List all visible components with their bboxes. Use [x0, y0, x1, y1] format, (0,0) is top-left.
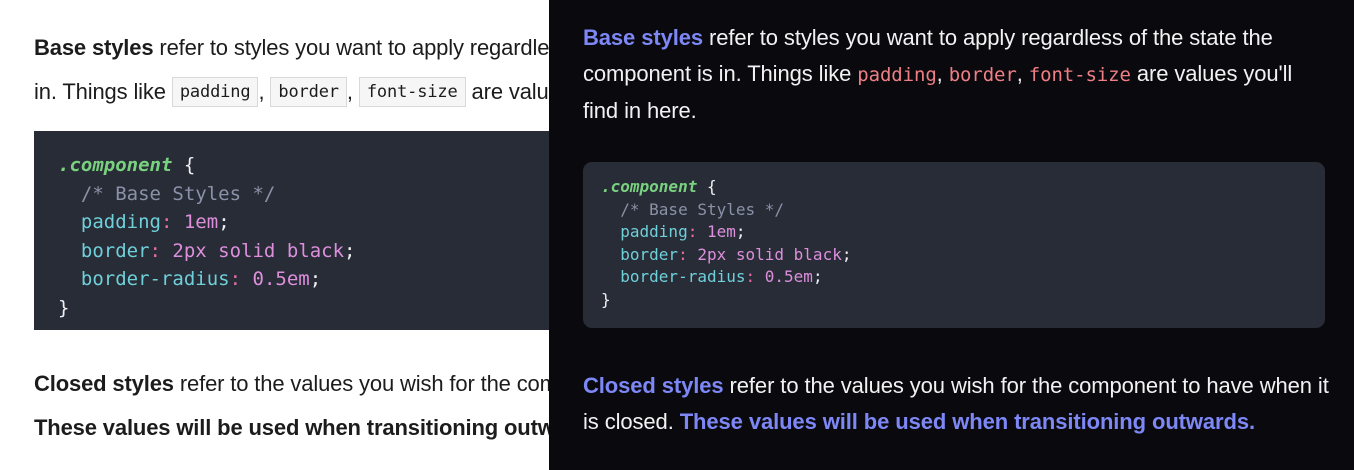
code-token-semi: ; [218, 211, 229, 233]
code-token-colon: : [161, 211, 172, 233]
inline-code-chip-padding: padding [172, 77, 259, 107]
code-token-punct: { [172, 154, 195, 176]
code-token-prop: padding [81, 211, 161, 233]
screenshot-root: Base styles refer to styles you want to … [0, 0, 1354, 470]
code-token-com: /* Base Styles */ [620, 200, 784, 219]
light-paragraph-base-line-1: Base styles refer to styles you want to … [34, 26, 549, 70]
code-token-val: 1em [172, 211, 218, 233]
dark-paragraph-closed-styles: Closed styles refer to the values you wi… [583, 368, 1331, 440]
dark-theme-pane: Base styles refer to styles you want to … [549, 0, 1354, 470]
light-base-line2-suffix: are values you'll find in here. [466, 79, 549, 104]
light-code-content: .component { /* Base Styles */ padding: … [58, 151, 549, 322]
code-token-semi: ; [842, 245, 852, 264]
code-token-semi: ; [344, 240, 355, 262]
inline-code-chip-border: border [270, 77, 347, 107]
light-lead-closed-styles: Closed styles [34, 371, 174, 396]
dark-chip-separator-2: , [1017, 61, 1029, 86]
light-paragraph-closed-styles: Closed styles refer to the values you wi… [34, 362, 549, 450]
code-token-sel: .component [601, 177, 697, 196]
dark-closed-bold-tail: These values will be used when transitio… [680, 409, 1255, 434]
light-base-text: refer to styles you want to apply regard… [153, 35, 549, 60]
code-token-prop: border-radius [81, 268, 230, 290]
dark-inline-code-font-size: font-size [1029, 64, 1131, 86]
code-token-punct: { [697, 177, 716, 196]
dark-paragraph-base-styles: Base styles refer to styles you want to … [583, 20, 1331, 129]
light-closed-text: refer to the values you wish for the com… [174, 371, 549, 396]
code-token-colon: : [230, 268, 241, 290]
code-token-val: 0.5em [755, 267, 813, 286]
inline-code-chip-font-size: font-size [359, 77, 466, 107]
code-token-prop: border-radius [620, 267, 745, 286]
dark-inline-code-border: border [949, 64, 1017, 86]
code-token-val: 2px solid black [161, 240, 344, 262]
dark-code-block: .component { /* Base Styles */ padding: … [583, 162, 1325, 328]
code-token-colon: : [678, 245, 688, 264]
light-pane-content: Base styles refer to styles you want to … [34, 0, 549, 470]
light-closed-bold-tail: These values will be used when transitio… [34, 406, 549, 450]
dark-chip-separator-1: , [937, 61, 949, 86]
code-token-colon: : [746, 267, 756, 286]
code-token-prop: border [81, 240, 150, 262]
light-code-block: .component { /* Base Styles */ padding: … [34, 131, 549, 330]
code-token-val: 1em [697, 222, 736, 241]
dark-inline-code-padding: padding [857, 64, 936, 86]
chip-separator-2: , [347, 79, 359, 104]
light-base-line2-prefix: in. Things like [34, 79, 172, 104]
code-token-semi: ; [310, 268, 321, 290]
code-token-colon: : [150, 240, 161, 262]
light-paragraph-base-styles: Base styles refer to styles you want to … [34, 26, 549, 114]
dark-lead-closed-styles: Closed styles [583, 373, 724, 398]
code-token-colon: : [688, 222, 698, 241]
code-token-punct: } [601, 290, 611, 309]
code-token-val: 2px solid black [688, 245, 842, 264]
chip-separator-1: , [258, 79, 270, 104]
code-token-com: /* Base Styles */ [81, 183, 275, 205]
code-token-semi: ; [736, 222, 746, 241]
light-paragraph-base-line-2: in. Things like padding, border, font-si… [34, 70, 549, 114]
dark-lead-base-styles: Base styles [583, 25, 703, 50]
code-token-prop: padding [620, 222, 687, 241]
dark-code-content: .component { /* Base Styles */ padding: … [601, 176, 1307, 311]
code-token-val: 0.5em [241, 268, 310, 290]
code-token-sel: .component [58, 154, 172, 176]
code-token-punct: } [58, 297, 69, 319]
code-token-semi: ; [813, 267, 823, 286]
light-theme-pane: Base styles refer to styles you want to … [0, 0, 549, 470]
light-paragraph-closed-line-1: Closed styles refer to the values you wi… [34, 362, 549, 406]
light-lead-base-styles: Base styles [34, 35, 153, 60]
code-token-prop: border [620, 245, 678, 264]
